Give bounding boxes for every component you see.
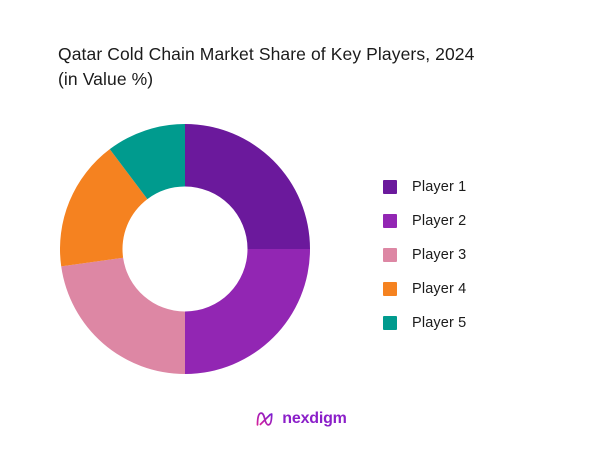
legend-item[interactable]: Player 2 xyxy=(383,204,533,238)
legend-label: Player 1 xyxy=(412,179,466,195)
brand-logo: nexdigm xyxy=(0,409,602,429)
donut-chart-svg xyxy=(60,124,310,374)
legend-label: Player 3 xyxy=(412,247,466,263)
nexdigm-logo-icon xyxy=(255,409,275,429)
donut-chart xyxy=(60,124,310,374)
legend-item[interactable]: Player 5 xyxy=(383,306,533,340)
donut-slice-player-3[interactable] xyxy=(61,258,185,374)
legend-item[interactable]: Player 4 xyxy=(383,272,533,306)
legend-item[interactable]: Player 3 xyxy=(383,238,533,272)
legend-label: Player 5 xyxy=(412,315,466,331)
brand-name: nexdigm xyxy=(282,411,346,427)
donut-slice-player-1[interactable] xyxy=(185,124,310,249)
chart-legend: Player 1 Player 2 Player 3 Player 4 Play… xyxy=(383,170,533,340)
legend-swatch-player-2 xyxy=(383,214,397,228)
donut-slice-player-2[interactable] xyxy=(185,249,310,374)
page-title: Qatar Cold Chain Market Share of Key Pla… xyxy=(58,42,578,92)
legend-swatch-player-5 xyxy=(383,316,397,330)
donut-slice-group xyxy=(60,124,310,374)
legend-swatch-player-1 xyxy=(383,180,397,194)
legend-swatch-player-4 xyxy=(383,282,397,296)
legend-swatch-player-3 xyxy=(383,248,397,262)
legend-item[interactable]: Player 1 xyxy=(383,170,533,204)
legend-label: Player 2 xyxy=(412,213,466,229)
chart-page: Qatar Cold Chain Market Share of Key Pla… xyxy=(0,0,602,451)
legend-label: Player 4 xyxy=(412,281,466,297)
